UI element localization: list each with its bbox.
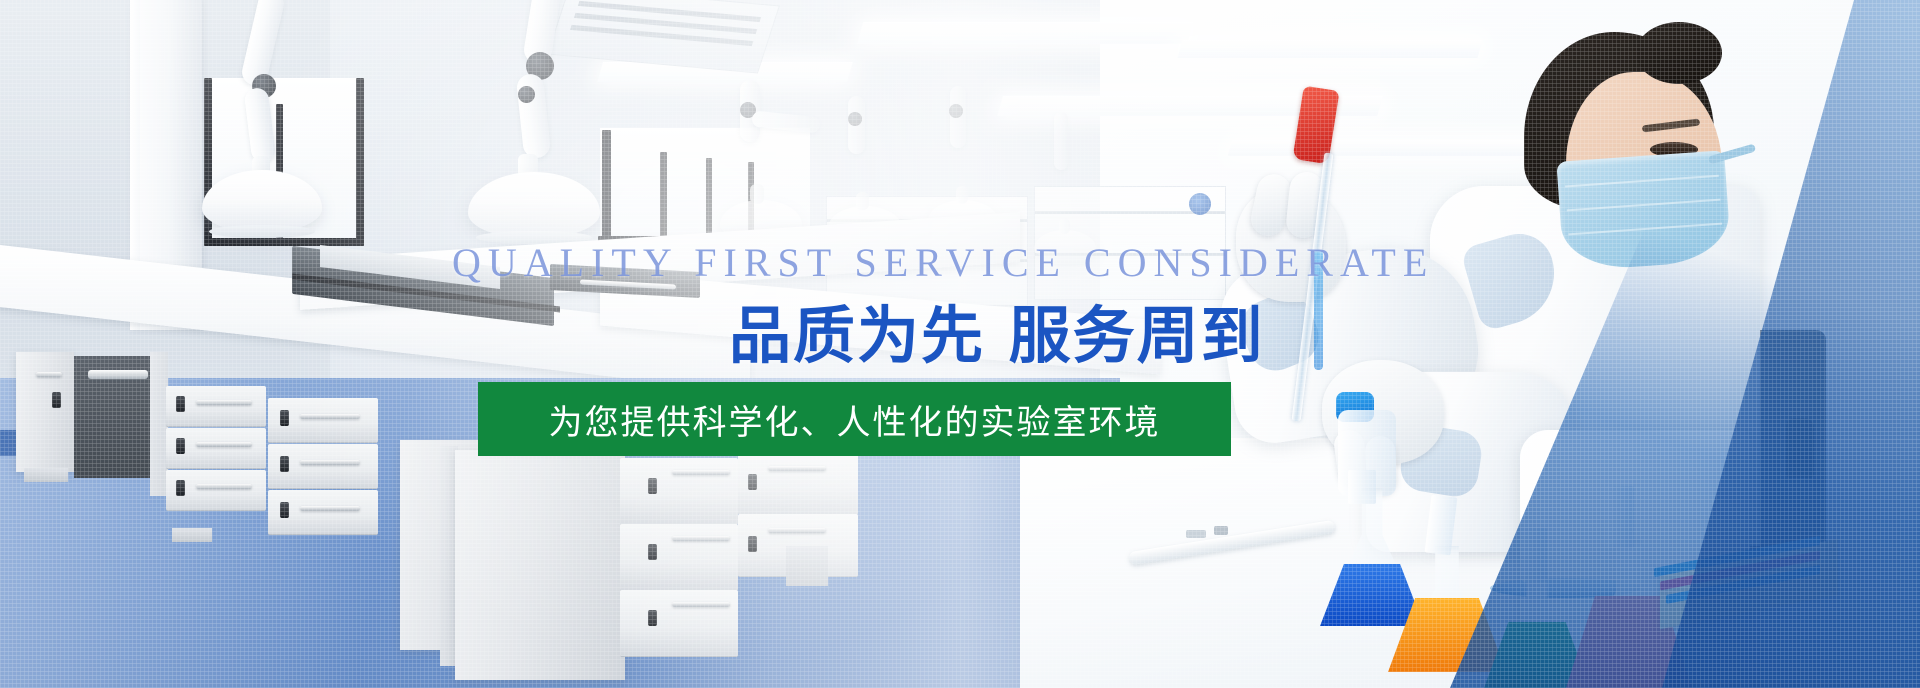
lab-hero-banner: QUALITY FIRST SERVICE CONSIDERATE 品质为先 服… [0,0,1920,688]
banner-headline: 品质为先 服务周到 [729,303,1265,368]
banner-subtitle-bar: 为您提供科学化、人性化的实验室环境 [478,382,1231,456]
banner-text-block: QUALITY FIRST SERVICE CONSIDERATE 品质为先 服… [0,0,1920,688]
banner-subtitle-text: 为您提供科学化、人性化的实验室环境 [549,395,1161,444]
banner-eyebrow-text: QUALITY FIRST SERVICE CONSIDERATE [452,243,1434,283]
